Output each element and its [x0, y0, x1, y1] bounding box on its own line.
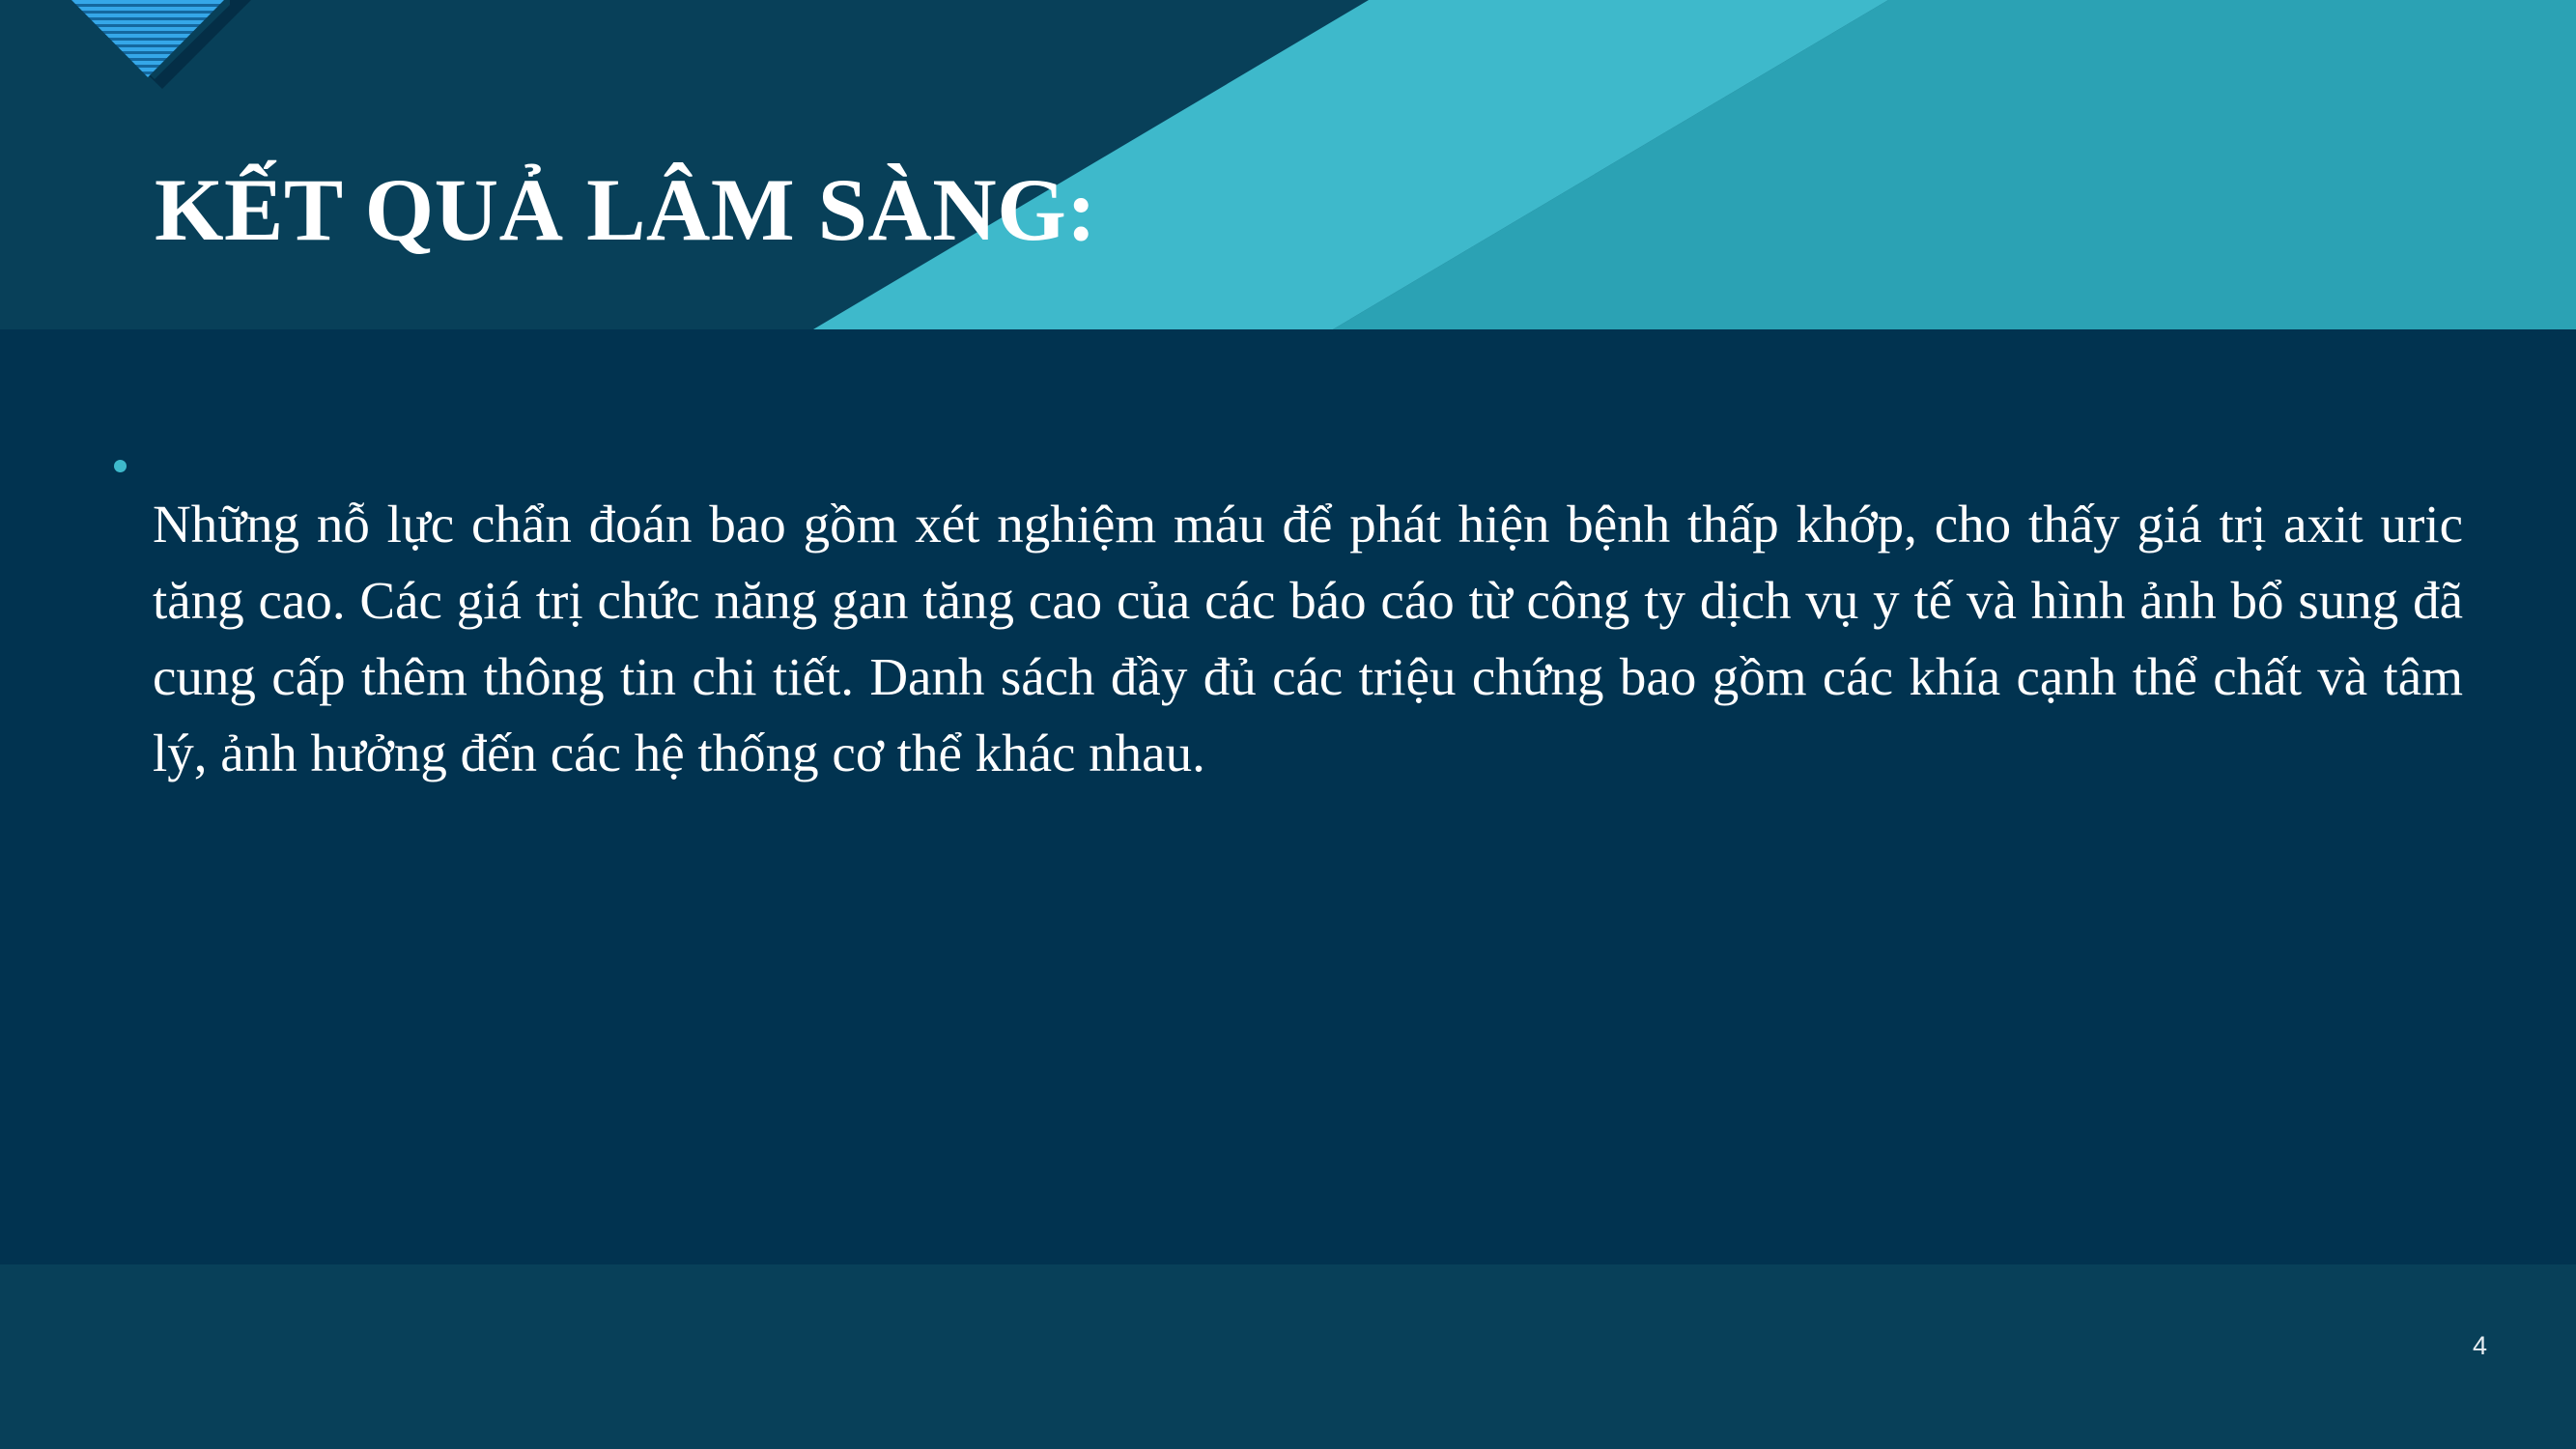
bullet-list-item: Những nỗ lực chẩn đoán bao gồm xét nghiệ… [106, 433, 2463, 844]
slide-body-content: Những nỗ lực chẩn đoán bao gồm xét nghiệ… [106, 433, 2463, 844]
footer-band [0, 1264, 2576, 1449]
slide-title: KẾT QUẢ LÂM SÀNG: [155, 162, 2376, 258]
bullet-item-text: Những nỗ lực chẩn đoán bao gồm xét nghiệ… [153, 486, 2463, 791]
bullet-dot-icon [106, 433, 153, 472]
slide-canvas: KẾT QUẢ LÂM SÀNG: Những nỗ lực chẩn đoán… [0, 0, 2576, 1449]
page-number: 4 [2473, 1333, 2487, 1359]
